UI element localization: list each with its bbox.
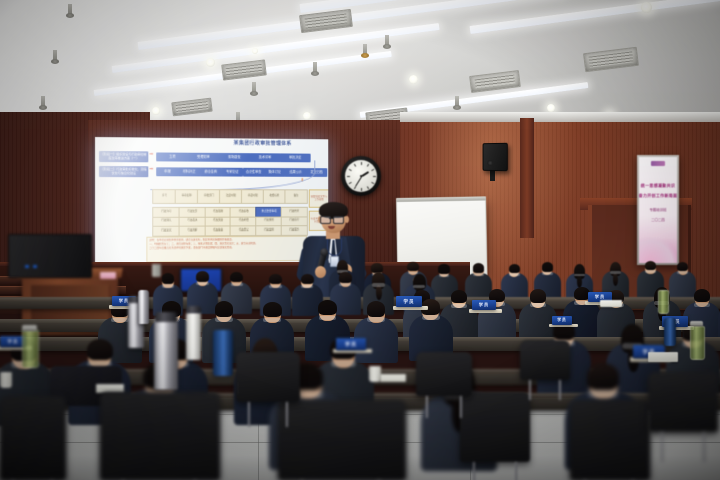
banner-sub-2: 二〇二四 bbox=[651, 217, 665, 222]
audience-hair bbox=[367, 301, 385, 316]
notebook-and-pen-2 bbox=[600, 300, 622, 307]
conference-chair-3 bbox=[460, 392, 530, 462]
audience-collar bbox=[372, 283, 384, 286]
chair-leg-8a bbox=[529, 380, 531, 400]
name-placard-text-9: 学员 bbox=[557, 318, 567, 323]
conference-chair-7 bbox=[416, 352, 472, 396]
conference-chair-9 bbox=[648, 372, 718, 432]
slide-footer-notes: 说明：各单位应按照本体系要求，结合自身实际，制定具体实施细则并报备案。 一、明确… bbox=[146, 236, 307, 263]
slide-matrix-cell-r3-c1: 行政复议 bbox=[152, 226, 180, 237]
audience-collar bbox=[509, 273, 520, 276]
banner-logo bbox=[651, 161, 665, 166]
audience-collar bbox=[694, 303, 709, 307]
stainless-steel-thermos-3 bbox=[138, 290, 149, 324]
slide-footer-note-3: 二〇二四年度重点任务清单已随文下发，请各部门于规定期限内反馈落实情况。 bbox=[149, 245, 304, 250]
audience-hair bbox=[645, 261, 656, 270]
name-placard-3: 学员 bbox=[336, 338, 366, 350]
recessed-downlight-3 bbox=[641, 2, 652, 13]
audience-collar bbox=[439, 274, 450, 277]
slide-matrix-header-cell-5: 承诺时限 bbox=[241, 189, 265, 204]
clock-minute-hand bbox=[355, 176, 362, 186]
chair-leg-9b bbox=[703, 432, 705, 462]
audience-hair bbox=[542, 262, 553, 271]
name-placard-9: 学员 bbox=[552, 316, 572, 325]
glass-tea-jar-2 bbox=[690, 326, 705, 360]
audience-collar bbox=[319, 316, 337, 321]
recessed-downlight-8 bbox=[252, 48, 258, 54]
presenter-ear-right bbox=[345, 216, 349, 223]
audience-collar bbox=[422, 315, 440, 320]
blue-travel-tumbler-2 bbox=[664, 318, 676, 346]
banner-line-1: 统一思想凝聚共识 bbox=[641, 183, 675, 189]
audience-collar bbox=[263, 318, 281, 323]
stainless-steel-thermos-1 bbox=[154, 318, 178, 390]
audience-collar bbox=[542, 272, 553, 275]
slide-stage-label-2: 【阶段二】行政审批标准化、流程优化与信息化建设 bbox=[99, 166, 148, 177]
name-placard-1: 学员 bbox=[396, 296, 422, 307]
audience-ponytail bbox=[376, 285, 382, 300]
white-vacuum-flask-1 bbox=[186, 312, 201, 360]
name-placard-text-3: 学员 bbox=[345, 341, 357, 348]
recessed-downlight-2 bbox=[409, 75, 418, 84]
slide-matrix-cell-r3-c4: 行政登记 bbox=[230, 225, 257, 235]
audience-collar bbox=[301, 285, 313, 288]
clock-tick-5 bbox=[371, 181, 374, 183]
clock-tick-1 bbox=[361, 162, 362, 165]
conference-chair-2 bbox=[278, 400, 406, 480]
audience-collar bbox=[367, 317, 385, 322]
slide-matrix-cell-r3-c3: 行政备案 bbox=[204, 225, 232, 236]
conference-room-photo: 某集团行政审批管理体系 【阶段一】组织建设与行政审批制度改革推进方案（一） 【阶… bbox=[0, 0, 720, 480]
conference-chair-8 bbox=[520, 340, 570, 380]
audience-hair bbox=[162, 273, 175, 284]
chair-leg-7b bbox=[460, 396, 462, 418]
fire-sprinkler-head-9 bbox=[455, 96, 459, 107]
banner-sub-1: 专题培训班 bbox=[650, 207, 667, 212]
clock-tick-11 bbox=[349, 168, 352, 170]
paper-cup-3 bbox=[0, 372, 12, 388]
fire-sprinkler-head-3 bbox=[385, 35, 389, 46]
audience-collar bbox=[196, 282, 208, 285]
glass-tea-jar-1-lid bbox=[22, 325, 37, 331]
conference-chair-5 bbox=[570, 400, 650, 480]
glass-tea-jar-1 bbox=[22, 330, 39, 368]
slide-matrix-header-cell-4: 法定时限 bbox=[219, 189, 243, 204]
clock-tick-7 bbox=[361, 188, 362, 191]
whiteboard-top-rail bbox=[396, 196, 486, 202]
fire-sprinkler-head-7 bbox=[252, 82, 256, 93]
audience-collar bbox=[451, 304, 466, 308]
clock-tick-3 bbox=[371, 168, 374, 170]
audience-collar bbox=[339, 283, 351, 286]
glass-tea-jar-3 bbox=[658, 290, 669, 314]
podium-desk-item bbox=[100, 272, 116, 279]
clock-tick-4 bbox=[373, 176, 376, 177]
audience-collar bbox=[588, 390, 619, 398]
audience-hair bbox=[694, 289, 710, 302]
name-placard-text-2: 学员 bbox=[479, 302, 489, 308]
fire-sprinkler-head-1 bbox=[68, 4, 72, 15]
presentation-slide: 某集团行政审批管理体系 【阶段一】组织建设与行政审批制度改革推进方案（一） 【阶… bbox=[95, 137, 328, 265]
conference-chair-4 bbox=[0, 396, 66, 480]
audience-collar bbox=[610, 271, 621, 274]
clock-hour-hand bbox=[361, 171, 369, 177]
arrow-right-icon-1: ➡ bbox=[149, 152, 153, 157]
clock-tick-9 bbox=[349, 181, 352, 183]
av-button-1[interactable] bbox=[25, 265, 29, 268]
audience-hair bbox=[301, 274, 314, 285]
audience-collar bbox=[269, 285, 281, 288]
clock-center-pin bbox=[360, 175, 362, 177]
recessed-downlight-1 bbox=[206, 58, 215, 67]
name-placard-text-8: 学员 bbox=[7, 339, 18, 345]
fire-sprinkler-head-2 bbox=[53, 50, 57, 61]
fire-sprinkler-head-4 bbox=[363, 44, 367, 55]
wall-ceiling-ledge bbox=[400, 112, 720, 122]
slide-matrix-header-cell-7: 备注 bbox=[284, 189, 307, 204]
audience-hair bbox=[196, 271, 209, 282]
audience-hair bbox=[473, 263, 484, 272]
audience-hair bbox=[371, 263, 382, 272]
audience-hair bbox=[438, 264, 449, 273]
wall-mounted-pa-speaker bbox=[483, 143, 508, 171]
audience-hair bbox=[230, 272, 243, 283]
audience-collar bbox=[645, 270, 656, 273]
audience-collar bbox=[231, 283, 243, 286]
clock-tick-6 bbox=[367, 186, 369, 189]
vertical-banner-poster: 统一思想凝聚共识 奋力开创工作新局面 专题培训班 二〇二四 bbox=[639, 157, 677, 263]
recessed-downlight-4 bbox=[152, 107, 160, 115]
slide-matrix-header-cell-6: 收费标准 bbox=[263, 189, 286, 204]
conference-chair-1 bbox=[100, 392, 220, 480]
name-placard-text-1: 学员 bbox=[403, 299, 414, 305]
clock-tick-2 bbox=[367, 163, 369, 166]
audience-hair bbox=[677, 262, 688, 271]
audience-hair bbox=[318, 300, 336, 315]
slide-matrix-cell-r3-c5: 行政监督 bbox=[255, 225, 282, 235]
banner-line-2: 奋力开创工作新局面 bbox=[639, 193, 677, 199]
audience-collar bbox=[111, 318, 129, 323]
audience-hair bbox=[407, 262, 418, 271]
audience-collar bbox=[473, 273, 484, 276]
slide-title: 某集团行政审批管理体系 bbox=[201, 141, 324, 148]
fire-sprinkler-head-5 bbox=[313, 62, 317, 73]
chair-leg-6b bbox=[286, 402, 288, 427]
name-placard-2: 学员 bbox=[472, 300, 496, 310]
notebook-and-pen-3 bbox=[380, 374, 406, 382]
audience-hair bbox=[451, 290, 467, 303]
audience-collar bbox=[677, 271, 688, 274]
notebook-and-pen-1 bbox=[648, 352, 678, 362]
slide-matrix-header-cell-3: 审批部门 bbox=[197, 189, 221, 204]
blue-travel-tumbler-1 bbox=[213, 330, 233, 376]
audience-hair bbox=[215, 301, 233, 316]
clock-tick-10 bbox=[347, 176, 350, 177]
chair-leg-7a bbox=[426, 396, 428, 418]
clock-tick-12 bbox=[354, 163, 356, 166]
wall-column-strip bbox=[520, 118, 534, 238]
audience-collar bbox=[215, 317, 233, 322]
audience-hair bbox=[263, 302, 281, 317]
audience-collar bbox=[574, 274, 585, 277]
audience-hair bbox=[339, 272, 352, 283]
chair-leg-3a bbox=[473, 462, 475, 480]
chair-leg-3b bbox=[515, 462, 517, 480]
slide-stage-label-1: 【阶段一】组织建设与行政审批制度改革推进方案（一） bbox=[99, 151, 148, 162]
av-control-rack[interactable] bbox=[8, 234, 92, 278]
banner-decoration bbox=[639, 237, 677, 263]
slide-matrix-cell-r3-c2: 行政调解 bbox=[178, 226, 206, 237]
chair-leg-6a bbox=[248, 402, 250, 427]
glass-tea-jar-2-lid bbox=[690, 321, 703, 326]
slide-matrix-header-cell-2: 事项名称 bbox=[175, 189, 199, 204]
stainless-steel-thermos-1-cap bbox=[155, 312, 177, 322]
chair-leg-9a bbox=[661, 432, 663, 462]
eyeglasses-bridge bbox=[329, 218, 333, 219]
audience-hair bbox=[587, 363, 619, 390]
audience-collar bbox=[413, 285, 425, 288]
recessed-downlight-6 bbox=[547, 104, 555, 112]
audience-hair bbox=[509, 264, 520, 273]
audience-hair bbox=[269, 274, 282, 285]
wall-clock bbox=[341, 156, 381, 196]
av-button-2[interactable] bbox=[33, 265, 37, 268]
fire-sprinkler-head-6 bbox=[41, 96, 45, 107]
presenter-lanyard bbox=[327, 238, 342, 256]
conference-chair-6 bbox=[236, 352, 300, 402]
audience-hair bbox=[530, 289, 546, 302]
audience-collar bbox=[162, 284, 174, 287]
audience-hair bbox=[87, 339, 113, 361]
slide-matrix-header-cell-1: 序号 bbox=[152, 189, 176, 204]
audience-collar bbox=[530, 303, 545, 307]
white-vacuum-flask-1-cap bbox=[186, 306, 201, 313]
eyeglasses-icon-right bbox=[333, 216, 344, 224]
slide-connector-curve bbox=[150, 159, 315, 190]
projection-screen: 某集团行政审批管理体系 【阶段一】组织建设与行政审批制度改革推进方案（一） 【阶… bbox=[95, 137, 328, 265]
chair-leg-8b bbox=[559, 380, 561, 400]
clock-face bbox=[345, 160, 377, 192]
